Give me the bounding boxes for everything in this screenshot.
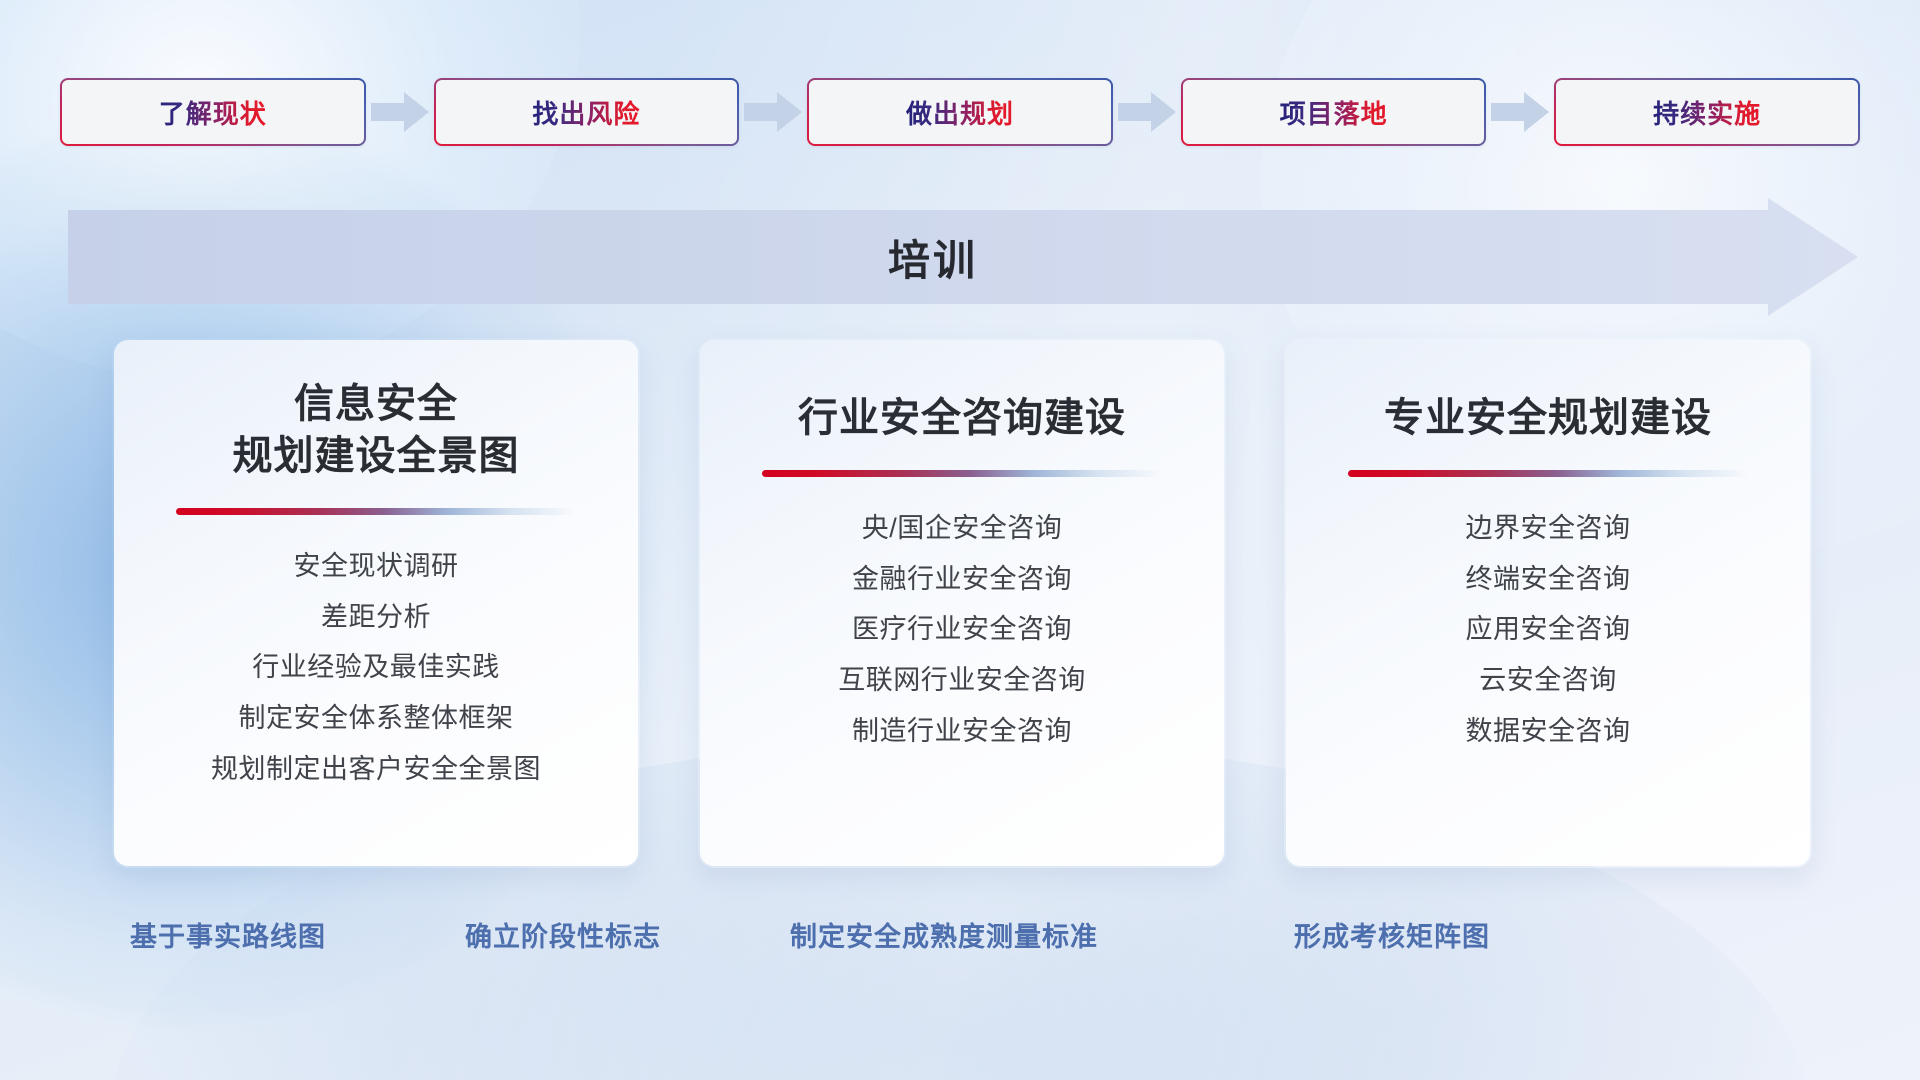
process-step-row: 了解现状找出风险做出规划项目落地持续实施 bbox=[60, 78, 1860, 146]
card-title: 专业安全规划建设 bbox=[1364, 392, 1732, 444]
step-box-2[interactable]: 找出风险 bbox=[434, 78, 740, 146]
card-list-item[interactable]: 应用安全咨询 bbox=[1466, 608, 1631, 651]
card-item-list: 安全现状调研差距分析行业经验及最佳实践制定安全体系整体框架规划制定出客户安全全景… bbox=[114, 545, 638, 790]
card-item-list: 央/国企安全咨询金融行业安全咨询医疗行业安全咨询互联网行业安全咨询制造行业安全咨… bbox=[700, 507, 1224, 752]
card-list-item[interactable]: 差距分析 bbox=[321, 596, 431, 639]
step-label: 项目落地 bbox=[1280, 94, 1388, 131]
card-content: 信息安全规划建设全景图安全现状调研差距分析行业经验及最佳实践制定安全体系整体框架… bbox=[114, 340, 638, 866]
card-list-item[interactable]: 规划制定出客户安全全景图 bbox=[211, 748, 541, 791]
footnote-row: 基于事实路线图确立阶段性标志制定安全成熟度测量标准形成考核矩阵图 bbox=[0, 915, 1920, 965]
card-title: 行业安全咨询建设 bbox=[778, 392, 1146, 444]
step-separator-arrow bbox=[1486, 92, 1554, 132]
footnote-label-2: 确立阶段性标志 bbox=[465, 915, 661, 954]
card-item-list: 边界安全咨询终端安全咨询应用安全咨询云安全咨询数据安全咨询 bbox=[1286, 507, 1810, 752]
card-list-item[interactable]: 行业经验及最佳实践 bbox=[252, 646, 500, 689]
card-title-line: 规划建设全景图 bbox=[233, 430, 520, 482]
card-list-item[interactable]: 互联网行业安全咨询 bbox=[838, 659, 1086, 702]
card-list-item[interactable]: 数据安全咨询 bbox=[1466, 710, 1631, 753]
step-separator-arrow bbox=[1113, 92, 1181, 132]
service-card-3[interactable]: 专业安全规划建设边界安全咨询终端安全咨询应用安全咨询云安全咨询数据安全咨询 bbox=[1284, 338, 1812, 868]
card-list-item[interactable]: 金融行业安全咨询 bbox=[852, 558, 1072, 601]
right-arrow-icon bbox=[371, 92, 429, 132]
step-label: 做出规划 bbox=[906, 94, 1014, 131]
step-box-3[interactable]: 做出规划 bbox=[807, 78, 1113, 146]
card-list-item[interactable]: 制造行业安全咨询 bbox=[852, 710, 1072, 753]
card-row: 信息安全规划建设全景图安全现状调研差距分析行业经验及最佳实践制定安全体系整体框架… bbox=[112, 338, 1812, 868]
service-card-1[interactable]: 信息安全规划建设全景图安全现状调研差距分析行业经验及最佳实践制定安全体系整体框架… bbox=[112, 338, 640, 868]
card-list-item[interactable]: 医疗行业安全咨询 bbox=[852, 608, 1072, 651]
card-list-item[interactable]: 边界安全咨询 bbox=[1466, 507, 1631, 550]
card-list-item[interactable]: 云安全咨询 bbox=[1479, 659, 1617, 702]
card-list-item[interactable]: 安全现状调研 bbox=[294, 545, 459, 588]
right-arrow-icon bbox=[1118, 92, 1176, 132]
card-divider bbox=[762, 470, 1162, 477]
card-title-line: 行业安全咨询建设 bbox=[798, 392, 1126, 444]
footnote-label-1: 基于事实路线图 bbox=[130, 915, 326, 954]
step-box-5[interactable]: 持续实施 bbox=[1554, 78, 1860, 146]
training-banner: 培训 bbox=[68, 198, 1858, 316]
card-title: 信息安全规划建设全景图 bbox=[213, 378, 540, 482]
card-content: 专业安全规划建设边界安全咨询终端安全咨询应用安全咨询云安全咨询数据安全咨询 bbox=[1286, 340, 1810, 866]
step-box-4[interactable]: 项目落地 bbox=[1181, 78, 1487, 146]
card-list-item[interactable]: 央/国企安全咨询 bbox=[862, 507, 1063, 550]
card-divider bbox=[1348, 470, 1748, 477]
banner-title: 培训 bbox=[68, 198, 1858, 316]
step-label: 持续实施 bbox=[1653, 94, 1761, 131]
step-box-1[interactable]: 了解现状 bbox=[60, 78, 366, 146]
service-card-2[interactable]: 行业安全咨询建设央/国企安全咨询金融行业安全咨询医疗行业安全咨询互联网行业安全咨… bbox=[698, 338, 1226, 868]
step-separator-arrow bbox=[366, 92, 434, 132]
right-arrow-icon bbox=[1491, 92, 1549, 132]
card-content: 行业安全咨询建设央/国企安全咨询金融行业安全咨询医疗行业安全咨询互联网行业安全咨… bbox=[700, 340, 1224, 866]
step-label: 找出风险 bbox=[532, 94, 640, 131]
card-title-line: 信息安全 bbox=[233, 378, 520, 430]
footnote-label-4: 形成考核矩阵图 bbox=[1294, 915, 1490, 954]
card-divider bbox=[176, 508, 576, 515]
right-arrow-icon bbox=[744, 92, 802, 132]
footnote-label-3: 制定安全成熟度测量标准 bbox=[790, 915, 1098, 954]
step-label: 了解现状 bbox=[159, 94, 267, 131]
step-separator-arrow bbox=[739, 92, 807, 132]
card-title-line: 专业安全规划建设 bbox=[1384, 392, 1712, 444]
card-list-item[interactable]: 终端安全咨询 bbox=[1466, 558, 1631, 601]
card-list-item[interactable]: 制定安全体系整体框架 bbox=[239, 697, 514, 740]
